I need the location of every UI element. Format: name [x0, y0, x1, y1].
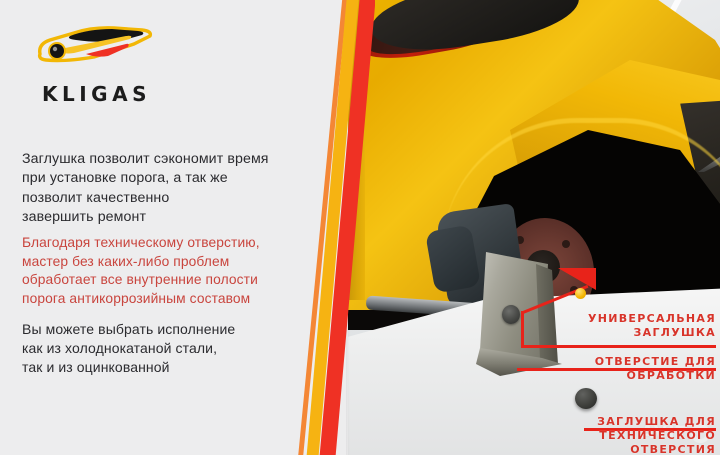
callout-processing-hole-line-1: ОТВЕРСТИЕ ДЛЯ — [516, 355, 716, 369]
left-text-panel: KLIGAS Заглушка позволит сэкономит время… — [0, 0, 348, 455]
promo-poster: AVIT УНИВЕРСАЛЬНАЯ ЗАГЛУШКА ОТВЕРСТИЕ ДЛ… — [0, 0, 720, 455]
brand-logo[interactable]: KLIGAS — [22, 24, 182, 96]
callout-technical-hole-plug: ЗАГЛУШКА ДЛЯ ТЕХНИЧЕСКОГО ОТВЕРСТИЯ — [516, 415, 716, 455]
callout-technical-plug-line-3: ОТВЕРСТИЯ — [516, 443, 716, 455]
product-photo: AVIT — [330, 0, 720, 455]
p2-line-2: мастер без каких-либо проблем — [22, 253, 322, 272]
p1-line-3: позволит качественно — [22, 189, 322, 208]
callout-processing-hole-line-2: ОБРАБОТКИ — [516, 369, 716, 383]
callout-universal-plug-line-2: ЗАГЛУШКА — [516, 326, 716, 340]
paragraph-benefit-material: Вы можете выбрать исполнение как из холо… — [22, 320, 322, 377]
p1-line-2: при установке порога, а так же — [22, 169, 322, 188]
callout-anchor-dot-universal-plug — [575, 288, 586, 299]
p1-line-1: Заглушка позволит сэкономит время — [22, 150, 322, 169]
technical-hole-plug-loose — [575, 388, 597, 409]
paragraph-benefit-anticorrosion: Благодаря техническому отверстию, мастер… — [22, 234, 322, 308]
disc-bolt-2 — [562, 240, 570, 248]
callout-technical-plug-line-2: ТЕХНИЧЕСКОГО — [516, 429, 716, 443]
metal-bracket-sample — [480, 250, 560, 370]
p3-line-3: так и из оцинкованной — [22, 358, 322, 377]
p3-line-2: как из холоднокатаной стали, — [22, 339, 322, 358]
callout-universal-plug-line-1: УНИВЕРСАЛЬНАЯ — [516, 312, 716, 326]
p1-line-4: завершить ремонт — [22, 208, 322, 227]
leader-line-universal-plug-underline — [521, 345, 716, 348]
p2-line-1: Благодаря техническому отверстию, — [22, 234, 322, 253]
brand-name: KLIGAS — [42, 82, 151, 106]
callout-processing-hole: ОТВЕРСТИЕ ДЛЯ ОБРАБОТКИ — [516, 355, 716, 383]
paragraph-benefit-time: Заглушка позволит сэкономит время при ус… — [22, 150, 322, 228]
sports-car-logo-icon — [30, 24, 158, 68]
p3-line-1: Вы можете выбрать исполнение — [22, 320, 322, 339]
p2-line-4: порога антикоррозийным составом — [22, 290, 322, 309]
callout-technical-plug-line-1: ЗАГЛУШКА ДЛЯ — [516, 415, 716, 429]
p2-line-3: обработает все внутренние полости — [22, 271, 322, 290]
callout-universal-plug: УНИВЕРСАЛЬНАЯ ЗАГЛУШКА — [516, 312, 716, 340]
